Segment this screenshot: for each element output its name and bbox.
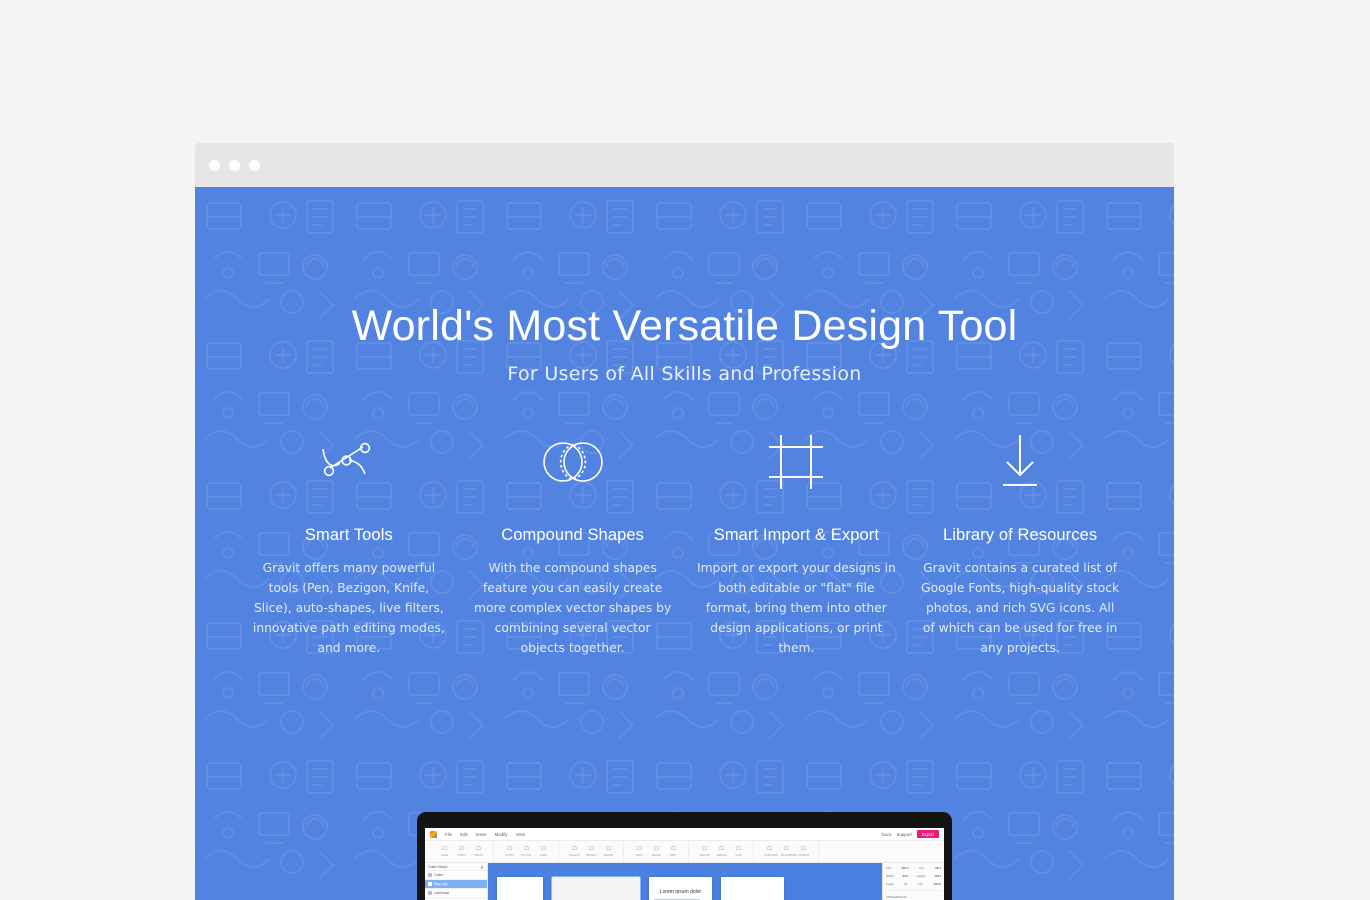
toolbar-button-label: CLIP (735, 853, 741, 857)
toolbar-icon: □ (456, 846, 467, 853)
export-button[interactable]: Export (917, 830, 939, 838)
device-mockups: GRAVIT CREATE MARKET DISCOVER BLOG ... C… (195, 777, 1174, 900)
app-body: Folder Stacks 🔒 FolderBag LogoLetterhead… (425, 863, 944, 900)
toolbar-button[interactable]: □CLIP (733, 846, 744, 857)
bezier-curve-icon (249, 432, 449, 492)
inspector-key: Width (886, 874, 894, 878)
toolbar-icon: □ (733, 846, 744, 853)
layer-label: Folder (434, 873, 443, 877)
inspector-value[interactable]: 1024 (934, 874, 941, 878)
menu-file[interactable]: File (445, 832, 452, 837)
layers-panel: Folder Stacks 🔒 FolderBag LogoLetterhead… (425, 863, 488, 900)
toolbar-button-label: REDO (474, 853, 482, 857)
toolbar-icon: □ (521, 846, 532, 853)
inspector-value[interactable]: 0° (905, 882, 908, 886)
app-logo-icon (430, 831, 437, 838)
inspector-rows: Left486.2Top-38.4Width800Height1024Angle… (886, 866, 941, 886)
toolbar-icon: □ (439, 846, 450, 853)
layer-label: Letterhead (434, 891, 449, 895)
inspector-appearance-header: APPEARANCE (886, 895, 941, 899)
toolbar-button-label: SAVE (441, 853, 448, 857)
toolbar-icon: □ (651, 846, 662, 853)
artboard-crop-icon (697, 432, 897, 492)
toolbar-button[interactable]: □VIEW (538, 846, 549, 857)
toolbar-button-label: IMAGE (652, 853, 661, 857)
toolbar-button[interactable]: □BACKWARD (781, 846, 792, 857)
lock-icon[interactable]: 🔒 (480, 865, 484, 869)
toolbar-button[interactable]: □MERGE (716, 846, 727, 857)
artboard-bag-logo[interactable]: nicson (552, 877, 640, 900)
toolbar-group: □SELECT□OBJECT□SHAPE (560, 841, 624, 862)
toolbar-icon: □ (764, 846, 775, 853)
toolbar-button[interactable]: □ZOOM (504, 846, 515, 857)
inspector-value[interactable]: 100% (933, 882, 941, 886)
feature-description: Gravit contains a curated list of Google… (920, 558, 1120, 658)
layers-panel-header: Folder Stacks 🔒 (425, 863, 487, 871)
toolbar-icon: □ (781, 846, 792, 853)
toolbar-button-label: MERGE (716, 853, 726, 857)
toolbar-button[interactable]: □GROUP (699, 846, 710, 857)
feature-description: Gravit offers many powerful tools (Pen, … (249, 558, 449, 658)
menu-docs[interactable]: Docs (881, 832, 891, 837)
inspector-row[interactable]: Angle0°Fill100% (886, 882, 941, 886)
inspector-key: Height (917, 874, 926, 878)
inspector-key: Angle (886, 882, 894, 886)
toolbar-button[interactable]: □FIT ALL (521, 846, 532, 857)
toolbar-button-label: VIEW (540, 853, 547, 857)
design-app-screen: File Edit Insert Modify View Docs Suppor… (425, 828, 944, 900)
toolbar-icon: □ (634, 846, 645, 853)
browser-chrome (195, 143, 1174, 187)
window-close-dot[interactable] (209, 160, 220, 171)
inspector-key: Left (886, 866, 891, 870)
toolbar-button-label: FIT ALL (522, 853, 532, 857)
layers-header-label: Folder Stacks (428, 865, 448, 869)
toolbar-button-label: BACKWARD (781, 853, 797, 857)
toolbar-button-label: GROUP (699, 853, 709, 857)
feature-smart-import-export: Smart Import & Export Import or export y… (685, 432, 909, 658)
artboard-poster[interactable] (497, 877, 543, 900)
feature-list: Smart Tools Gravit offers many powerful … (195, 432, 1174, 658)
toolbar-button-label: UNDO (457, 853, 465, 857)
toolbar-button[interactable]: □SAVE (439, 846, 450, 857)
toolbar-group: □FORWARD□BACKWARD□FORMAT (755, 841, 819, 862)
toolbar-icon: □ (569, 846, 580, 853)
toolbar-button-label: ZOOM (505, 853, 513, 857)
toolbar-button[interactable]: □EDIT (668, 846, 679, 857)
layer-thumb-icon (428, 891, 432, 895)
feature-title: Smart Import & Export (697, 526, 897, 545)
toolbar-button[interactable]: □FORMAT (798, 846, 809, 857)
toolbar-button-label: FORWARD (764, 853, 778, 857)
toolbar-icon: □ (716, 846, 727, 853)
inspector-value[interactable]: 486.2 (901, 866, 909, 870)
toolbar-icon: □ (538, 846, 549, 853)
feature-compound-shapes: Compound Shapes With the compound shapes… (461, 432, 685, 658)
toolbar-button[interactable]: □FORWARD (764, 846, 775, 857)
window-minimize-dot[interactable] (229, 160, 240, 171)
toolbar-icon: □ (668, 846, 679, 853)
menu-support[interactable]: Support (897, 832, 912, 837)
toolbar-button[interactable]: □SELECT (569, 846, 580, 857)
toolbar-icon: □ (473, 846, 484, 853)
feature-library-of-resources: Library of Resources Gravit contains a c… (908, 432, 1132, 658)
layer-thumb-icon (428, 873, 432, 877)
feature-smart-tools: Smart Tools Gravit offers many powerful … (237, 432, 461, 658)
toolbar-group: □SAVE□UNDO□REDO (430, 841, 494, 862)
hero-section: World's Most Versatile Design Tool For U… (195, 187, 1174, 900)
toolbar-icon: □ (798, 846, 809, 853)
browser-window: World's Most Versatile Design Tool For U… (195, 143, 1174, 900)
page-subtitle: For Users of All Skills and Profession (195, 363, 1174, 385)
inspector-key: Top (919, 866, 924, 870)
layer-item[interactable]: Bag Logo (425, 880, 487, 889)
toolbar-button[interactable]: □TEXT (634, 846, 645, 857)
inspector-divider (886, 890, 941, 891)
inspector-value[interactable]: 800 (903, 874, 908, 878)
inspector-value[interactable]: -38.4 (934, 866, 941, 870)
toolbar-group: □GROUP□MERGE□CLIP (690, 841, 754, 862)
toolbar-button[interactable]: □OBJECT (586, 846, 597, 857)
layer-item[interactable]: Letterhead (425, 889, 487, 898)
toolbar-button-label: OBJECT (586, 853, 597, 857)
toolbar-button-label: EDIT (670, 853, 676, 857)
toolbar-group: □ZOOM□FIT ALL□VIEW (495, 841, 559, 862)
menu-modify[interactable]: Modify (495, 832, 508, 837)
toolbar-group: □TEXT□IMAGE□EDIT (625, 841, 689, 862)
toolbar-button-label: SHAPE (604, 853, 613, 857)
toolbar-button[interactable]: □REDO (473, 846, 484, 857)
window-maximize-dot[interactable] (249, 160, 260, 171)
feature-title: Smart Tools (249, 526, 449, 545)
appearance-label: APPEARANCE (886, 895, 907, 899)
design-canvas[interactable]: nicson Lorem ipsum dolor (488, 863, 882, 900)
artboard-letterhead[interactable]: Lorem ipsum dolor (649, 877, 712, 900)
layer-label: Bag Logo (434, 882, 448, 886)
doc-title: Lorem ipsum dolor (654, 889, 707, 895)
feature-title: Library of Resources (920, 526, 1120, 545)
inspector-panel: Left486.2Top-38.4Width800Height1024Angle… (882, 863, 944, 900)
toolbar-icon: □ (504, 846, 515, 853)
toolbar-button[interactable]: □SHAPE (603, 846, 614, 857)
menu-view[interactable]: View (516, 832, 525, 837)
inspector-row[interactable]: Left486.2Top-38.4 (886, 866, 941, 870)
menu-insert[interactable]: Insert (476, 832, 487, 837)
toolbar-icon: □ (586, 846, 597, 853)
toolbar-button-label: SELECT (569, 853, 580, 857)
inspector-row[interactable]: Width800Height1024 (886, 874, 941, 878)
toolbar-icon: □ (603, 846, 614, 853)
menu-edit[interactable]: Edit (460, 832, 468, 837)
desktop-monitor-mockup: File Edit Insert Modify View Docs Suppor… (417, 812, 952, 900)
inspector-key: Fill (919, 882, 923, 886)
page-title: World's Most Versatile Design Tool (195, 187, 1174, 349)
toolbar-button-label: TEXT (636, 853, 643, 857)
toolbar-icon: □ (699, 846, 710, 853)
layers-list: FolderBag LogoLetterheadA4 White PaperNo… (425, 871, 487, 900)
layer-item[interactable]: Folder (425, 871, 487, 880)
feature-description: Import or export your designs in both ed… (697, 558, 897, 658)
layer-thumb-icon (428, 882, 432, 886)
toolbar-button[interactable]: □IMAGE (651, 846, 662, 857)
download-arrow-icon (920, 432, 1120, 492)
app-menubar: File Edit Insert Modify View Docs Suppor… (425, 828, 944, 841)
toolbar-button-label: FORMAT (798, 853, 810, 857)
toolbar-button[interactable]: □UNDO (456, 846, 467, 857)
feature-title: Compound Shapes (473, 526, 673, 545)
compound-shapes-icon (473, 432, 673, 492)
feature-description: With the compound shapes feature you can… (473, 558, 673, 658)
app-toolbar: □SAVE□UNDO□REDO□ZOOM□FIT ALL□VIEW□SELECT… (425, 841, 944, 863)
artboard-blank-page[interactable] (721, 877, 784, 900)
